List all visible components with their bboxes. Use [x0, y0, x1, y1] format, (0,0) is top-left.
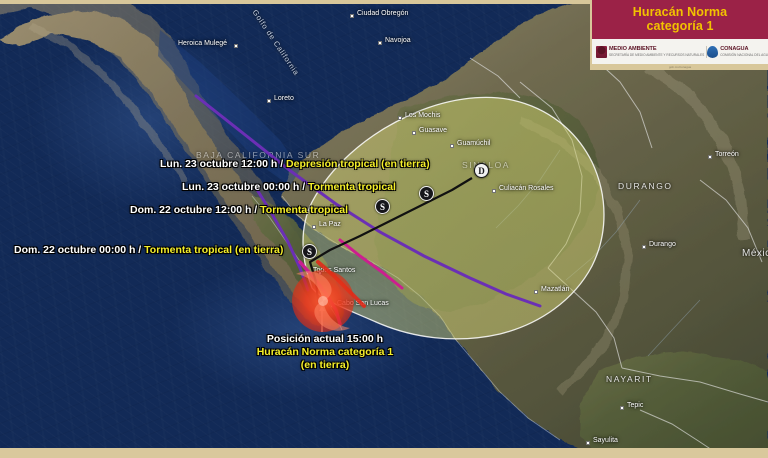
current-position-callout: Posición actual 15:00 h Huracán Norma ca… — [245, 333, 405, 372]
current-position-time: Posición actual 15:00 h — [245, 333, 405, 346]
forecast-time: Dom. 22 octubre 00:00 h — [14, 244, 135, 256]
forecast-category: Tormenta tropical — [308, 181, 396, 193]
forecast-separator: / — [280, 158, 283, 170]
hurricane-forecast-map: Golfo de California BAJA CALIFORNIA SUR … — [0, 0, 768, 458]
logo-title: CONAGUA — [720, 46, 748, 52]
logo-subtitle: SECRETARÍA DE MEDIO AMBIENTE Y RECURSOS … — [609, 52, 704, 58]
marker-letter: D — [478, 166, 485, 176]
forecast-separator: / — [302, 181, 305, 193]
agency-logos: MEDIO AMBIENTE SECRETARÍA DE MEDIO AMBIE… — [592, 39, 768, 64]
current-position-category: Huracán Norma categoría 1 — [245, 346, 405, 359]
forecast-label-lun23-00: Lun. 23 octubre 00:00 h / Tormenta tropi… — [182, 181, 396, 193]
forecast-category: Depresión tropical (en tierra) — [286, 158, 430, 170]
banner-title: Huracán Norma categoría 1 — [592, 0, 768, 39]
track-marker-depression-lun23-12: D — [474, 163, 489, 178]
logo-subtitle: COMISIÓN NACIONAL DEL AGUA — [720, 52, 768, 58]
track-marker-storm-dom22-12: S — [375, 199, 390, 214]
logo-title: MEDIO AMBIENTE — [609, 46, 657, 52]
marker-letter: S — [424, 189, 429, 199]
forecast-label-dom22-12: Dom. 22 octubre 12:00 h / Tormenta tropi… — [130, 204, 348, 216]
logo-medio-ambiente: MEDIO AMBIENTE SECRETARÍA DE MEDIO AMBIE… — [596, 46, 704, 58]
banner-footer-strip: gob.mx/conagua — [592, 64, 768, 70]
logo-label: CONAGUA COMISIÓN NACIONAL DEL AGUA — [720, 46, 768, 58]
marker-letter: S — [380, 202, 385, 212]
track-marker-storm-lun23-00: S — [419, 186, 434, 201]
water-drop-icon — [707, 46, 718, 58]
logo-conagua: CONAGUA COMISIÓN NACIONAL DEL AGUA — [706, 46, 768, 58]
banner-title-line1: Huracán Norma — [596, 5, 764, 19]
forecast-time: Dom. 22 octubre 12:00 h — [130, 204, 251, 216]
marker-letter: S — [307, 247, 312, 257]
banner-microtext: gob.mx/conagua — [592, 64, 768, 70]
forecast-time: Lun. 23 octubre 12:00 h — [160, 158, 277, 170]
track-marker-storm-dom22-00: S — [302, 244, 317, 259]
forecast-time: Lun. 23 octubre 00:00 h — [182, 181, 299, 193]
logo-label: MEDIO AMBIENTE SECRETARÍA DE MEDIO AMBIE… — [609, 46, 704, 58]
current-position-landfall: (en tierra) — [245, 359, 405, 372]
forecast-separator: / — [138, 244, 141, 256]
eagle-emblem-icon — [596, 46, 607, 58]
forecast-separator: / — [254, 204, 257, 216]
banner-title-line2: categoría 1 — [596, 19, 764, 33]
forecast-category: Tormenta tropical — [260, 204, 348, 216]
forecast-label-lun23-12: Lun. 23 octubre 12:00 h / Depresión trop… — [160, 158, 430, 170]
forecast-category: Tormenta tropical (en tierra) — [144, 244, 283, 256]
header-banner: Huracán Norma categoría 1 MEDIO AMBIENTE… — [590, 0, 768, 70]
forecast-label-dom22-00: Dom. 22 octubre 00:00 h / Tormenta tropi… — [14, 244, 283, 256]
